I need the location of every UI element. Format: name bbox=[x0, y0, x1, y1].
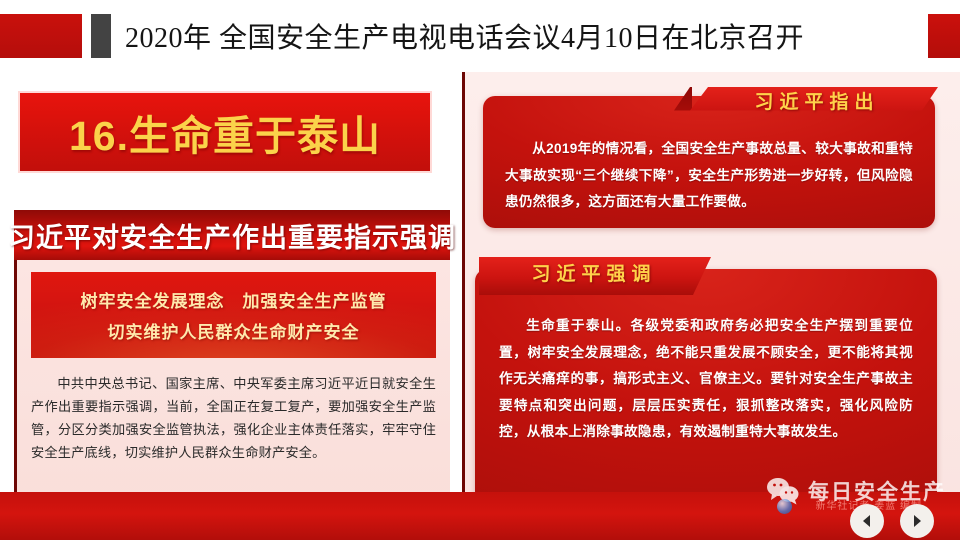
subheading-text: 习近平对安全生产作出重要指示强调 bbox=[8, 216, 456, 255]
header-right-red-accent bbox=[928, 14, 960, 58]
poster-body: 16.生命重于泰山 习近平对安全生产作出重要指示强调 树牢安全发展理念 加强安全… bbox=[0, 72, 960, 540]
quote-card-2-text: 生命重于泰山。各级党委和政府务必把安全生产摆到重要位置，树牢安全发展理念，绝不能… bbox=[499, 313, 913, 446]
slogan-line-1: 树牢安全发展理念 加强安全生产监管 bbox=[81, 287, 387, 312]
section-title-text: 16.生命重于泰山 bbox=[69, 102, 381, 162]
ribbon-1-label-wrap: 习近平指出 bbox=[690, 87, 938, 113]
header-red-accent-block bbox=[0, 14, 82, 58]
news-agency-badge-icon bbox=[777, 499, 792, 514]
page-header: 2020年 全国安全生产电视电话会议4月10日在北京召开 bbox=[0, 0, 960, 72]
header-gray-accent-block bbox=[91, 14, 111, 58]
ribbon-1-label: 习近平指出 bbox=[748, 87, 879, 114]
ribbon-2-label: 习近平强调 bbox=[525, 259, 656, 286]
subheading-bar: 习近平对安全生产作出重要指示强调 bbox=[14, 210, 450, 260]
page-title: 2020年 全国安全生产电视电话会议4月10日在北京召开 bbox=[125, 16, 804, 56]
left-body-paragraph: 中共中央总书记、国家主席、中央军委主席习近平近日就安全生产作出重要指示强调，当前… bbox=[31, 372, 436, 464]
left-content-box: 树牢安全发展理念 加强安全生产监管 切实维护人民群众生命财产安全 中共中央总书记… bbox=[14, 260, 450, 520]
right-panel: 从2019年的情况看，全国安全生产事故总量、较大事故和重特大事故实现“三个继续下… bbox=[465, 72, 960, 540]
left-panel: 16.生命重于泰山 习近平对安全生产作出重要指示强调 树牢安全发展理念 加强安全… bbox=[0, 72, 462, 540]
slogan-box: 树牢安全发展理念 加强安全生产监管 切实维护人民群众生命财产安全 bbox=[31, 272, 436, 358]
quote-card-1: 从2019年的情况看，全国安全生产事故总量、较大事故和重特大事故实现“三个继续下… bbox=[483, 96, 935, 228]
next-arrow-button[interactable] bbox=[900, 504, 934, 538]
ribbon-2-label-wrap: 习近平强调 bbox=[479, 257, 703, 287]
prev-arrow-button[interactable] bbox=[850, 504, 884, 538]
section-title-banner: 16.生命重于泰山 bbox=[18, 91, 432, 173]
quote-card-1-text: 从2019年的情况看，全国安全生产事故总量、较大事故和重特大事故实现“三个继续下… bbox=[505, 136, 913, 216]
slogan-line-2: 切实维护人民群众生命财产安全 bbox=[108, 318, 360, 343]
